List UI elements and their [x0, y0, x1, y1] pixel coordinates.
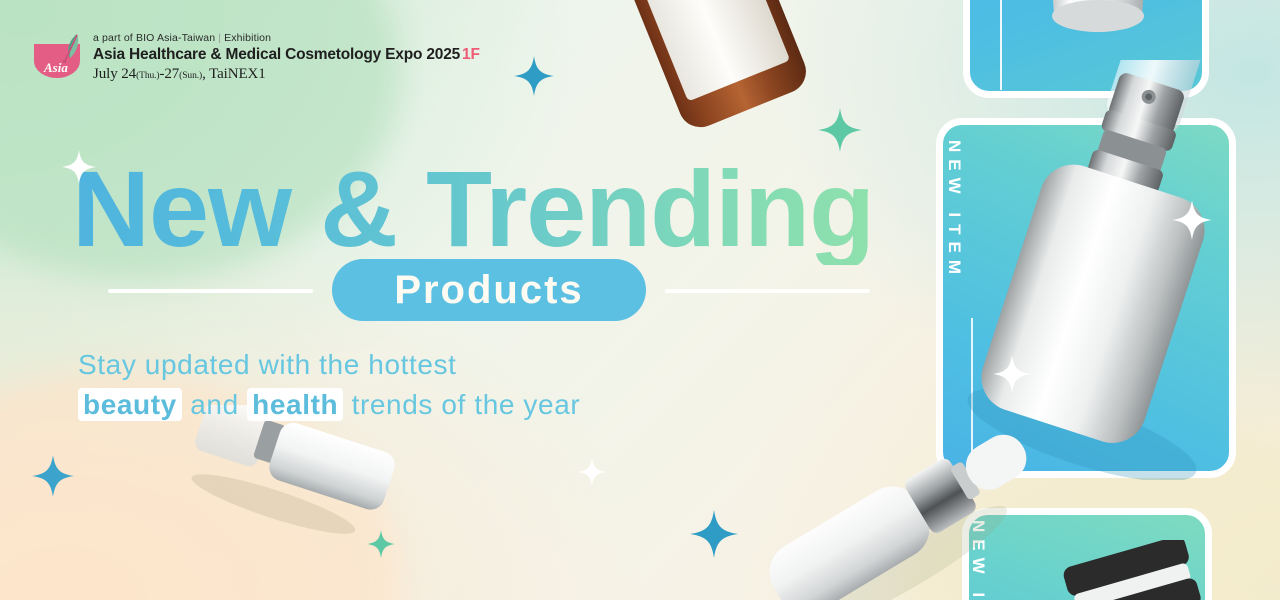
promo-banner: Bio Asia a part of BIO Asia-Taiwan|Exhib…: [0, 0, 1280, 600]
page-title: New & Trending: [72, 152, 874, 265]
white-pump-bottle-small: [185, 405, 405, 535]
event-date-start: July 24: [93, 66, 136, 82]
amber-supplement-bottle: [588, 0, 838, 149]
event-date-sun: (Sun.): [179, 71, 202, 81]
hero-subtitle: Stay updated with the hottest beauty and…: [78, 348, 580, 422]
subtitle-tail: trends of the year: [343, 389, 580, 420]
event-date-end: -27: [159, 66, 179, 82]
event-date-thu: (Thu.): [136, 71, 159, 81]
highlight-health: health: [247, 388, 343, 421]
white-dropper-bottle: [740, 400, 1040, 600]
logo-bio-text: Bio: [39, 42, 62, 62]
subtitle-middle: and: [182, 389, 247, 420]
sparkle-blue-top: [514, 56, 554, 96]
sparkle-white-card-main: [1172, 200, 1212, 240]
event-date-venue: July 24(Thu.)-27(Sun.), TaiNEX1: [93, 65, 480, 86]
header-eyebrow-suffix: Exhibition: [224, 32, 271, 44]
leaf-icon: [60, 33, 82, 63]
sparkle-white-card-mid: [993, 355, 1031, 393]
divider-right: [665, 289, 870, 293]
subtitle-line-2: beauty and health trends of the year: [78, 388, 580, 422]
divider-left: [108, 289, 313, 293]
sparkle-blue-left: [32, 455, 74, 497]
event-floor-badge: 1F: [460, 46, 480, 63]
black-cap-jar: [1055, 540, 1225, 600]
products-pill-label: Products: [394, 268, 583, 313]
sparkle-teal-lower: [367, 530, 395, 558]
sparkle-teal-upper: [818, 108, 862, 152]
event-header: Bio Asia a part of BIO Asia-Taiwan|Exhib…: [30, 30, 480, 86]
highlight-beauty: beauty: [78, 388, 182, 421]
header-text-block: a part of BIO Asia-Taiwan|Exhibition Asi…: [93, 30, 480, 86]
event-venue: , TaiNEX1: [202, 66, 266, 82]
products-pill: Products: [332, 259, 646, 321]
sparkle-white-headline: [62, 150, 96, 184]
sparkle-white-center: [578, 458, 606, 486]
subtitle-line-1: Stay updated with the hottest: [78, 349, 457, 380]
header-eyebrow-part: a part of BIO Asia-Taiwan: [93, 32, 215, 44]
event-title: Asia Healthcare & Medical Cosmetology Ex…: [93, 45, 480, 65]
white-jar-top: [1030, 0, 1180, 60]
event-title-text: Asia Healthcare & Medical Cosmetology Ex…: [93, 46, 460, 63]
bio-asia-logo: Bio Asia: [30, 30, 84, 82]
sparkle-blue-bottom: [690, 510, 738, 558]
header-eyebrow: a part of BIO Asia-Taiwan|Exhibition: [93, 31, 480, 45]
header-eyebrow-separator: |: [215, 32, 224, 44]
